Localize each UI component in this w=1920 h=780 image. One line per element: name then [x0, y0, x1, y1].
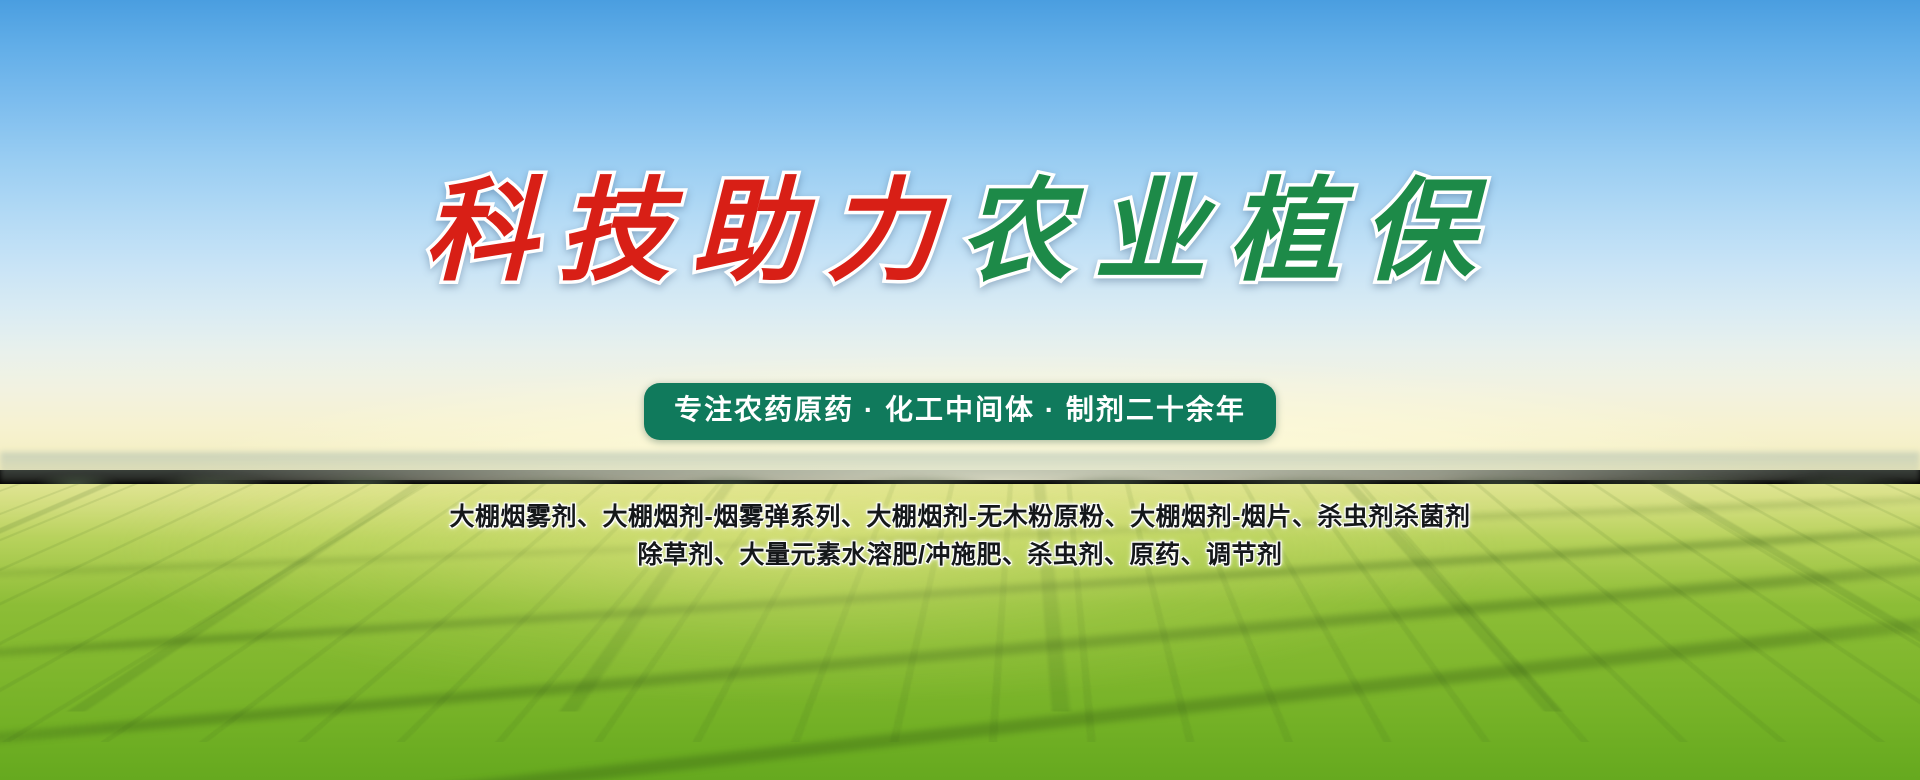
hero-banner: 科技助力农业植保 专注农药原药 · 化工中间体 · 制剂二十余年 大棚烟雾剂、大…	[0, 0, 1920, 780]
banner-headline: 科技助力农业植保	[0, 176, 1920, 288]
headline-green-text: 农业植保	[960, 176, 1496, 288]
product-line: 除草剂、大量元素水溶肥/冲施肥、杀虫剂、原药、调节剂	[0, 536, 1920, 574]
tagline-pill: 专注农药原药 · 化工中间体 · 制剂二十余年	[644, 383, 1276, 440]
headline-red-text: 科技助力	[424, 176, 960, 288]
product-list: 大棚烟雾剂、大棚烟剂-烟雾弹系列、大棚烟剂-无木粉原粉、大棚烟剂-烟片、杀虫剂杀…	[0, 498, 1920, 574]
tagline-container: 专注农药原药 · 化工中间体 · 制剂二十余年	[0, 383, 1920, 440]
product-line: 大棚烟雾剂、大棚烟剂-烟雾弹系列、大棚烟剂-无木粉原粉、大棚烟剂-烟片、杀虫剂杀…	[0, 498, 1920, 536]
